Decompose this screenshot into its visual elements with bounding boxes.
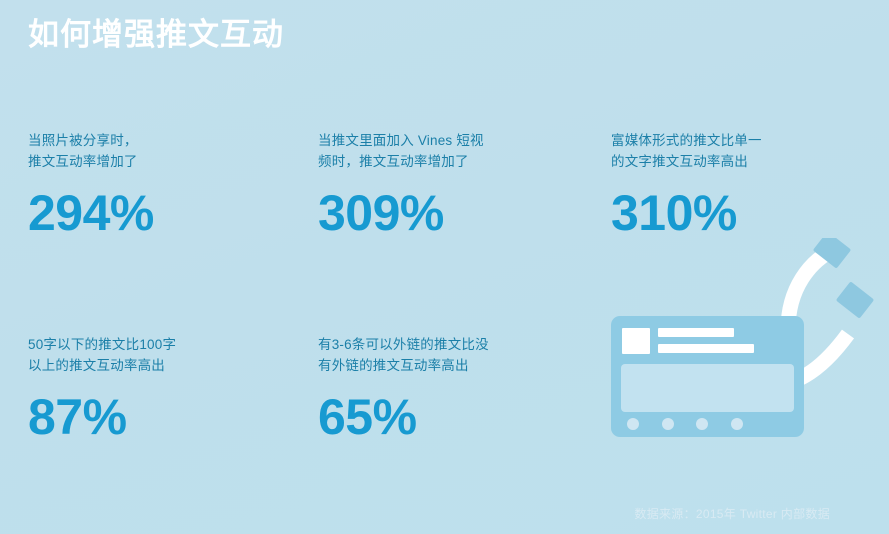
stat-block-photo-shared: 当照片被分享时，推文互动率增加了 294% [28,130,308,240]
stat-label: 有3-6条可以外链的推文比没有外链的推文互动率高出 [318,334,533,376]
stat-value: 309% [318,186,598,240]
stat-label: 当照片被分享时，推文互动率增加了 [28,130,243,172]
tweet-card [611,316,804,437]
source-note: 数据来源：2015年 Twitter 内部数据 [634,505,830,522]
infographic-canvas: 如何增强推文互动 当照片被分享时，推文互动率增加了 294% 当推文里面加入 V… [0,0,889,534]
stat-block-vines-video: 当推文里面加入 Vines 短视频时，推文互动率增加了 309% [318,130,598,240]
stat-value: 87% [28,390,308,444]
avatar [622,328,650,354]
stat-value: 65% [318,390,598,444]
stat-value: 294% [28,186,308,240]
page-title: 如何增强推文互动 [28,12,728,58]
stat-value: 310% [611,186,889,240]
card-media-panel [621,364,794,412]
stat-label: 当推文里面加入 Vines 短视频时，推文互动率增加了 [318,130,533,172]
stat-label: 富媒体形式的推文比单一的文字推文互动率高出 [611,130,811,172]
tweet-card-illustration [590,238,889,448]
stat-block-short-tweets: 50字以下的推文比100字以上的推文互动率高出 87% [28,334,308,444]
stat-label: 50字以下的推文比100字以上的推文互动率高出 [28,334,243,376]
stat-block-rich-media: 富媒体形式的推文比单一的文字推文互动率高出 310% [611,130,889,240]
arrow-upper-icon [788,238,851,330]
stat-block-external-links: 有3-6条可以外链的推文比没有外链的推文互动率高出 65% [318,334,598,444]
title-bar: 如何增强推文互动 [28,12,728,62]
